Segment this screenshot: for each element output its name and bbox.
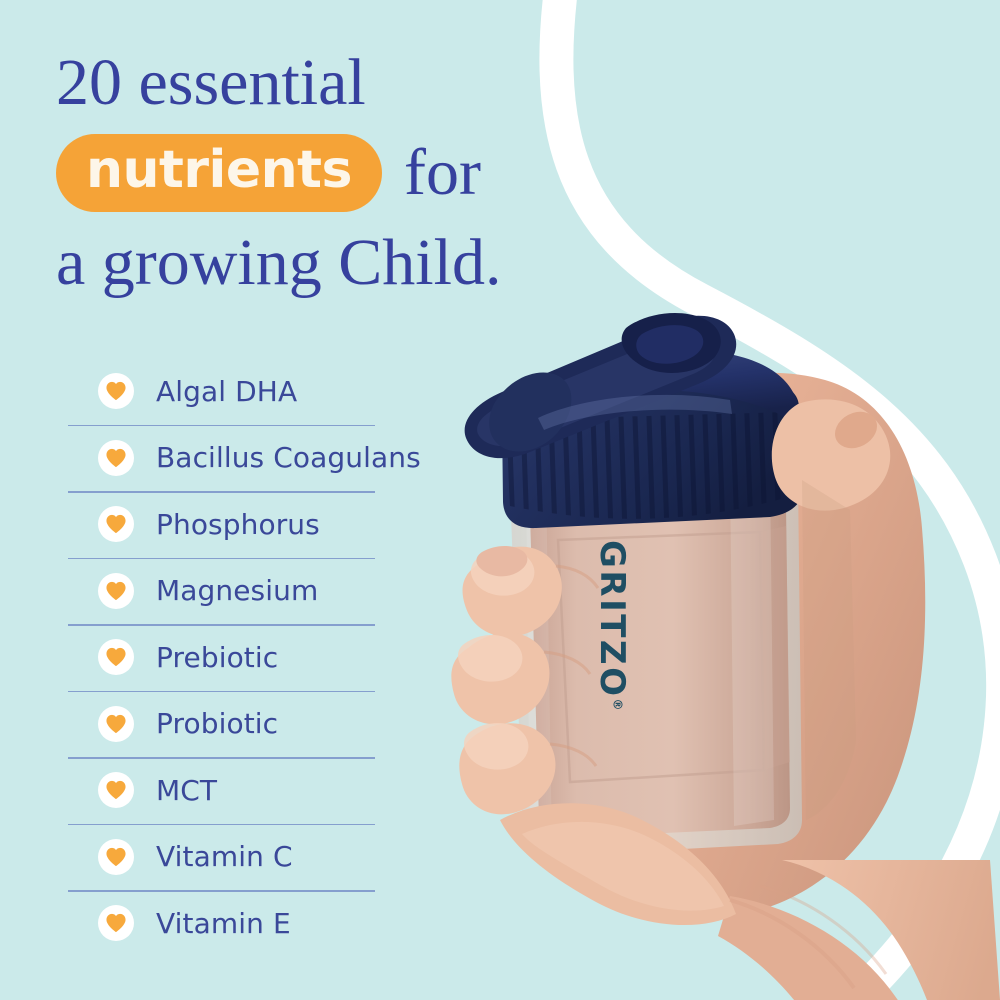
promotional-poster: 20 essential nutrients for a growing Chi…: [0, 0, 1000, 1000]
nutrients-highlight-pill: nutrients: [56, 134, 382, 212]
headline-line-1: 20 essential: [56, 40, 676, 126]
heart-icon: [98, 639, 134, 675]
brand-wordmark: GRITZO®: [592, 540, 632, 711]
heart-icon: [98, 440, 134, 476]
list-item: Phosphorus: [68, 491, 488, 558]
headline-line-2-suffix: for: [404, 130, 481, 216]
headline-line-2: nutrients for: [56, 126, 676, 220]
list-item: Algal DHA: [68, 358, 488, 425]
list-item: Probiotic: [68, 691, 488, 758]
heart-icon: [98, 373, 134, 409]
list-item: Vitamin C: [68, 824, 488, 891]
nutrient-label: Algal DHA: [156, 375, 297, 408]
nutrient-label: Probiotic: [156, 707, 278, 740]
nutrient-label: Bacillus Coagulans: [156, 441, 421, 474]
heart-icon: [98, 905, 134, 941]
heart-icon: [98, 506, 134, 542]
list-item: MCT: [68, 757, 488, 824]
list-item: Magnesium: [68, 558, 488, 625]
heart-icon: [98, 772, 134, 808]
page-headline: 20 essential nutrients for a growing Chi…: [56, 40, 676, 306]
brand-name: GRITZO: [592, 540, 632, 699]
nutrient-label: Vitamin C: [156, 840, 293, 873]
list-item: Bacillus Coagulans: [68, 425, 488, 492]
nutrient-label: MCT: [156, 774, 217, 807]
headline-line-3: a growing Child.: [56, 220, 676, 306]
nutrient-label: Vitamin E: [156, 907, 291, 940]
heart-icon: [98, 839, 134, 875]
nutrient-label: Prebiotic: [156, 641, 278, 674]
nutrient-list: Algal DHA Bacillus Coagulans Phosphorus: [68, 358, 488, 957]
nutrient-label: Phosphorus: [156, 508, 320, 541]
list-item: Prebiotic: [68, 624, 488, 691]
product-photo-hand-holding-shaker: [430, 300, 1000, 1000]
heart-icon: [98, 706, 134, 742]
list-item: Vitamin E: [68, 890, 488, 957]
heart-icon: [98, 573, 134, 609]
registered-trademark-icon: ®: [610, 699, 624, 711]
nutrient-label: Magnesium: [156, 574, 318, 607]
